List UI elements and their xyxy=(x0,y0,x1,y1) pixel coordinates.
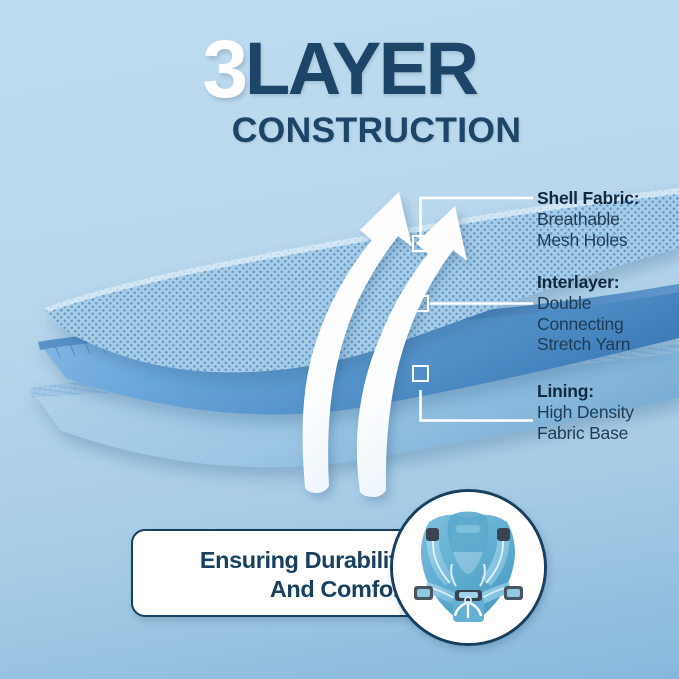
tagline-line-1: Ensuring Durability xyxy=(200,546,409,575)
callout-marker-lining[interactable] xyxy=(412,365,429,382)
tagline-line-2: And Comfort xyxy=(270,575,409,604)
callout-shell-fabric: Shell Fabric: Breathable Mesh Holes xyxy=(537,188,639,250)
infographic-canvas: 3 LAYER CONSTRUCTION xyxy=(0,0,679,679)
product-photo-circle[interactable] xyxy=(390,489,547,646)
callout-lining: Lining: High Density Fabric Base xyxy=(537,381,634,443)
callout-lining-title: Lining: xyxy=(537,381,634,402)
callout-lining-line2: Fabric Base xyxy=(537,423,634,444)
callout-marker-interlayer[interactable] xyxy=(412,295,429,312)
callout-interlayer-line1: Double xyxy=(537,293,630,314)
callout-shell-fabric-title: Shell Fabric: xyxy=(537,188,639,209)
callout-interlayer: Interlayer: Double Connecting Stretch Ya… xyxy=(537,272,630,355)
dog-harness-illustration xyxy=(393,492,544,643)
tagline-text: Ensuring Durability And Comfort xyxy=(133,531,421,619)
callout-interlayer-line3: Stretch Yarn xyxy=(537,334,630,355)
callout-marker-shell-fabric[interactable] xyxy=(412,235,429,252)
callout-interlayer-line2: Connecting xyxy=(537,314,630,335)
callout-shell-fabric-line2: Mesh Holes xyxy=(537,230,639,251)
callout-lining-line1: High Density xyxy=(537,402,634,423)
callout-interlayer-title: Interlayer: xyxy=(537,272,630,293)
callout-shell-fabric-line1: Breathable xyxy=(537,209,639,230)
